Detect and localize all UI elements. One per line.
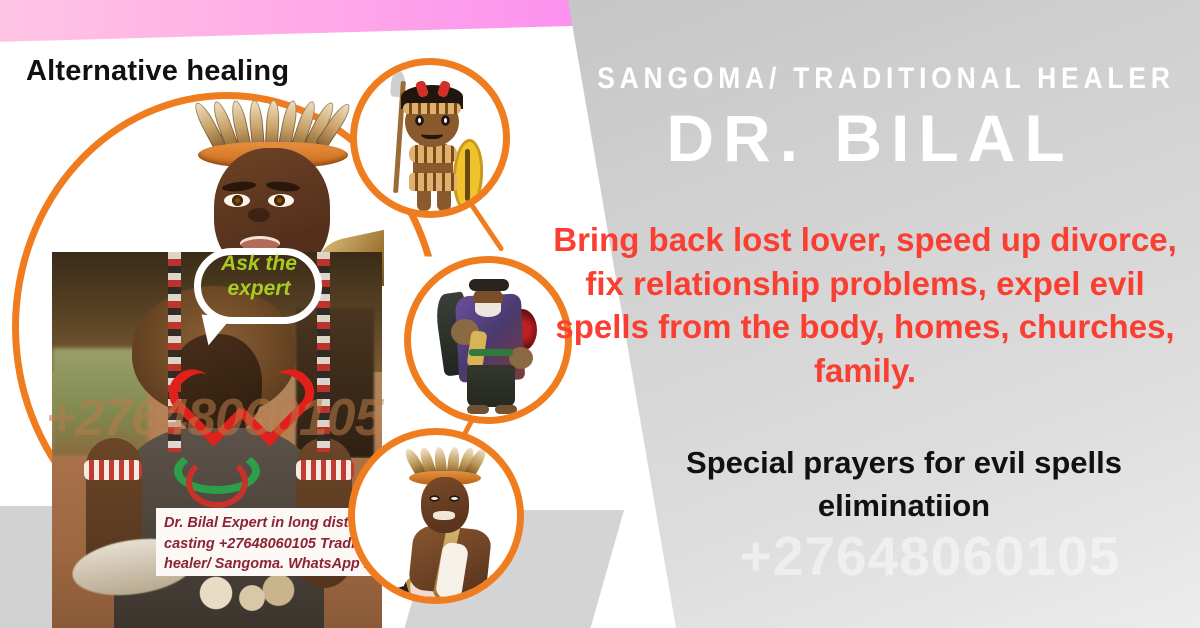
connector-line-1 — [468, 201, 505, 252]
healer-name: DR. BILAL — [560, 100, 1180, 176]
subheading: SANGOMA/ TRADITIONAL HEALER — [597, 62, 1143, 96]
phone-watermark: +27648060105 — [650, 524, 1200, 588]
page-title: Alternative healing — [26, 55, 289, 88]
circle-image-warrior — [350, 58, 510, 218]
poster-canvas: Alternative healing — [0, 0, 1200, 628]
red-necklace — [186, 456, 248, 508]
circle-image-crouching-warrior — [348, 428, 524, 604]
top-pink-bar — [0, 0, 596, 42]
special-prayers-text: Special prayers for evil spells eliminat… — [614, 442, 1194, 528]
services-description: Bring back lost lover, speed up divorce,… — [540, 218, 1190, 392]
nose — [248, 208, 270, 222]
bubble-label: Ask the expert — [200, 252, 318, 302]
